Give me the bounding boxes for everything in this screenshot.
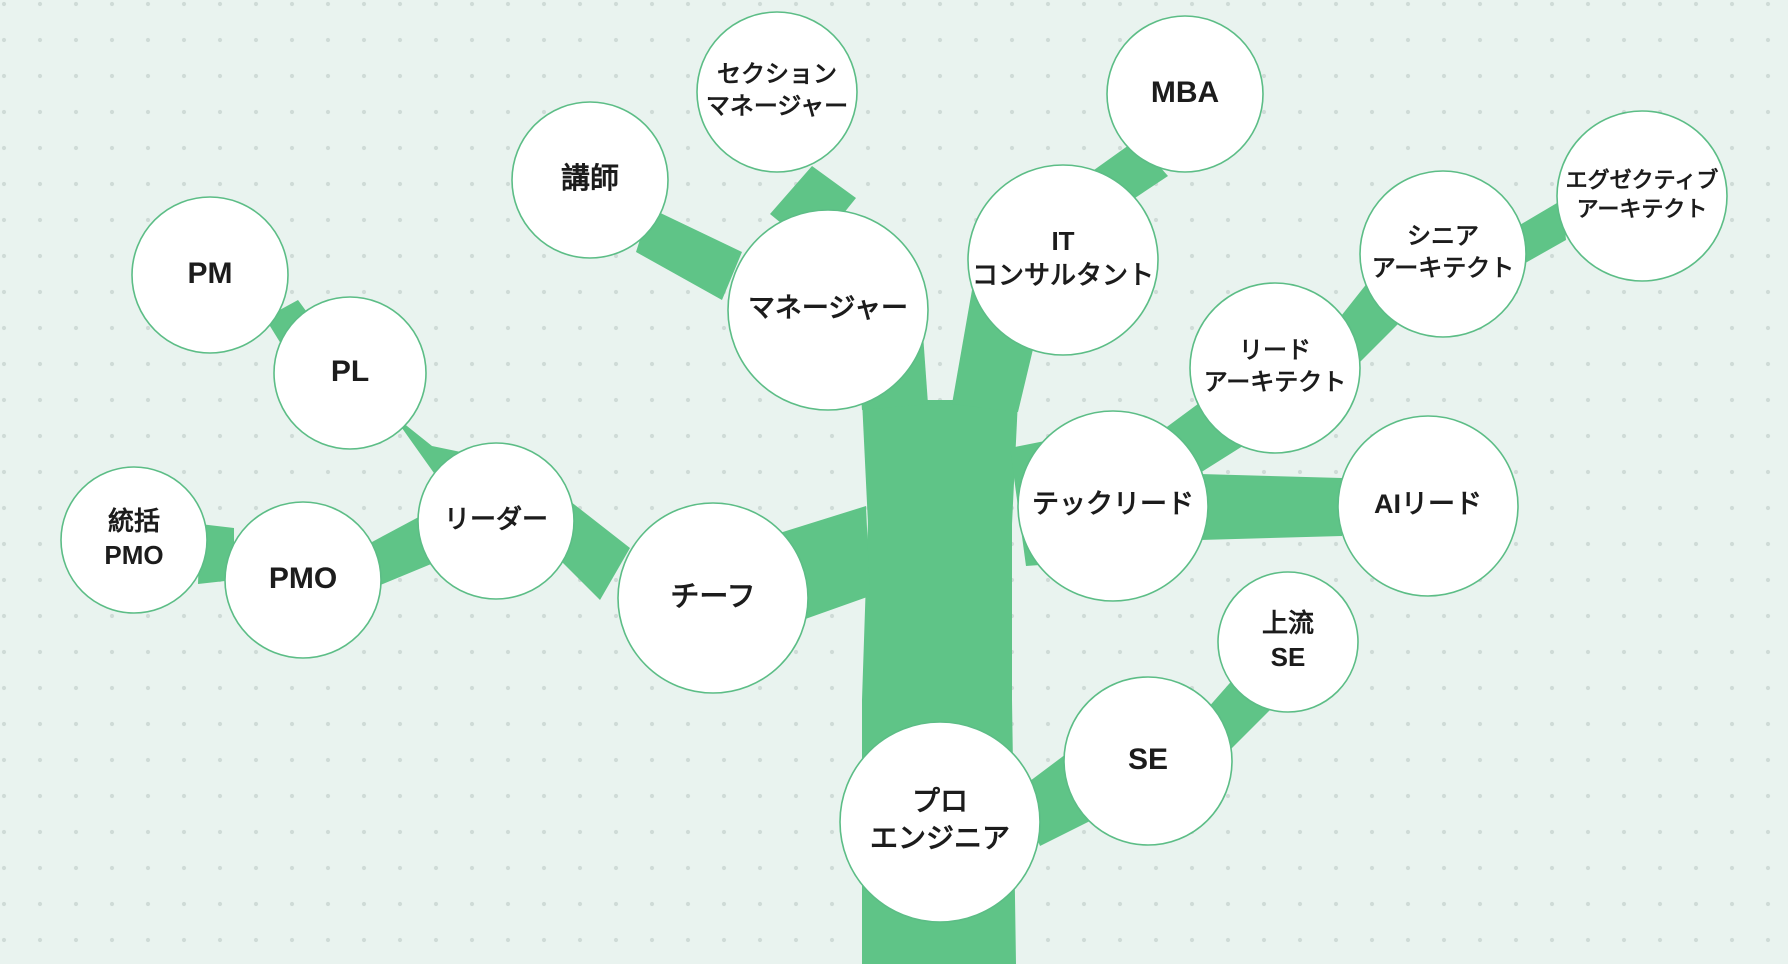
node-label-line: コンサルタント: [972, 260, 1154, 290]
node-label-se: SE: [1128, 743, 1168, 776]
career-tree-diagram: プロエンジニアSE上流SEテックリードAIリードリードアーキテクトシニアアーキテ…: [0, 0, 1788, 964]
node-label-line: PL: [331, 355, 369, 388]
node-label-manager: マネージャー: [748, 293, 908, 323]
node-label-line: 上流: [1262, 608, 1314, 638]
node-label-line: リード: [1239, 338, 1311, 365]
node-label-pmo: PMO: [269, 562, 337, 595]
node-circle-senior-architect[interactable]: [1360, 171, 1526, 337]
node-ai-lead[interactable]: AIリード: [1338, 416, 1518, 596]
node-label-ai-lead: AIリード: [1374, 489, 1482, 519]
node-label-leader: リーダー: [444, 504, 548, 534]
node-manager[interactable]: マネージャー: [728, 210, 928, 410]
node-label-line: 統括: [108, 506, 160, 536]
node-label-line: プロ: [912, 786, 968, 817]
node-it-consultant[interactable]: ITコンサルタント: [968, 165, 1158, 355]
node-label-pm: PM: [188, 257, 233, 290]
branch-trunk-stem: [862, 400, 1018, 524]
node-label-line: セクション: [717, 62, 837, 89]
node-leader[interactable]: リーダー: [418, 443, 574, 599]
node-se[interactable]: SE: [1064, 677, 1232, 845]
node-label-line: 講師: [561, 161, 619, 195]
node-label-line: PMO: [269, 562, 337, 595]
node-senior-architect[interactable]: シニアアーキテクト: [1360, 171, 1526, 337]
node-label-pl: PL: [331, 355, 369, 388]
node-label-mba: MBA: [1151, 76, 1219, 109]
node-label-line: アーキテクト: [1372, 255, 1515, 282]
node-label-line: MBA: [1151, 76, 1219, 109]
node-executive-architect[interactable]: エグゼクティブアーキテクト: [1557, 111, 1727, 281]
node-label-chief: チーフ: [670, 581, 755, 613]
node-label-line: マネージャー: [706, 93, 848, 120]
node-label-line: リーダー: [444, 504, 548, 534]
node-general-pmo[interactable]: 統括PMO: [61, 467, 207, 613]
node-label-line: PM: [188, 257, 233, 290]
node-label-line: シニア: [1407, 224, 1479, 251]
branch-tech-lead-to-ai-lead: [1200, 474, 1342, 540]
node-label-line: エグゼクティブ: [1566, 167, 1719, 192]
node-label-tech-lead: テックリード: [1032, 489, 1194, 519]
node-label-line: テックリード: [1032, 489, 1194, 519]
node-circle-lead-architect[interactable]: [1190, 283, 1360, 453]
node-label-line: マネージャー: [748, 293, 908, 323]
node-instructor[interactable]: 講師: [512, 102, 668, 258]
node-label-instructor: 講師: [561, 161, 619, 195]
node-section-manager[interactable]: セクションマネージャー: [697, 12, 857, 172]
node-label-line: IT: [1051, 226, 1074, 256]
career-tree-canvas: プロエンジニアSE上流SEテックリードAIリードリードアーキテクトシニアアーキテ…: [0, 0, 1788, 964]
node-mba[interactable]: MBA: [1107, 16, 1263, 172]
node-pm[interactable]: PM: [132, 197, 288, 353]
node-label-line: エンジニア: [870, 823, 1010, 854]
node-label-line: SE: [1271, 642, 1306, 672]
node-upstream-se[interactable]: 上流SE: [1218, 572, 1358, 712]
node-label-line: SE: [1128, 743, 1168, 776]
node-label-line: AIリード: [1374, 489, 1482, 519]
node-label-line: アーキテクト: [1204, 369, 1347, 396]
node-label-line: アーキテクト: [1577, 196, 1708, 221]
node-tech-lead[interactable]: テックリード: [1018, 411, 1208, 601]
node-pmo[interactable]: PMO: [225, 502, 381, 658]
node-chief[interactable]: チーフ: [618, 503, 808, 693]
node-label-line: チーフ: [670, 581, 755, 613]
node-circle-section-manager[interactable]: [697, 12, 857, 172]
node-lead-architect[interactable]: リードアーキテクト: [1190, 283, 1360, 453]
node-label-line: PMO: [104, 540, 163, 570]
node-pro-engineer[interactable]: プロエンジニア: [840, 722, 1040, 922]
node-pl[interactable]: PL: [274, 297, 426, 449]
